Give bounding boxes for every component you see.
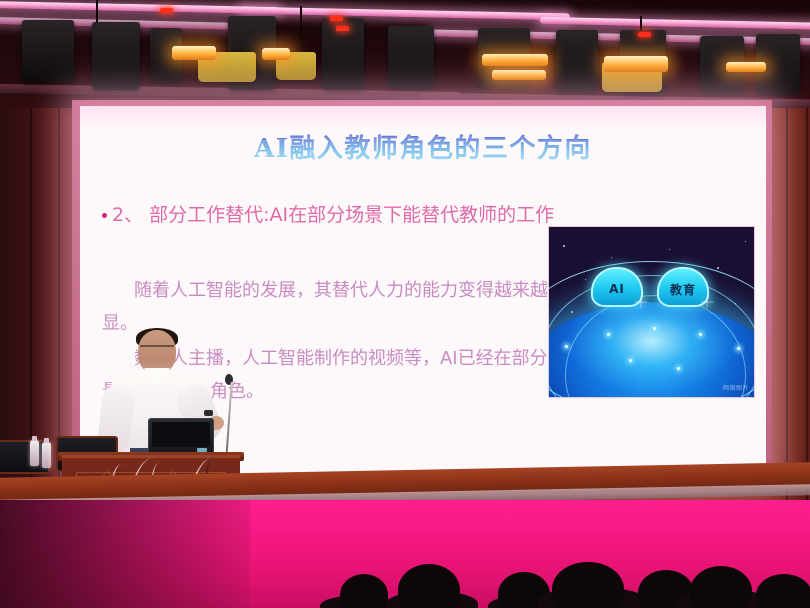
audience-member-head — [340, 574, 388, 608]
network-node — [565, 345, 568, 348]
bullet-dot-icon — [102, 213, 107, 218]
lamp-glow — [482, 54, 548, 66]
audience-member-head — [398, 564, 460, 608]
stage-light-fixture — [388, 26, 434, 88]
indicator-light — [638, 32, 651, 37]
lamp-glow — [172, 46, 216, 60]
lamp-glow — [604, 56, 668, 72]
image-watermark: 网络图片 — [723, 383, 749, 392]
lamp-glow — [492, 70, 546, 80]
water-bottle — [30, 440, 39, 466]
water-bottle — [42, 442, 51, 468]
presenter-wristwatch — [204, 410, 213, 416]
indicator-light — [330, 16, 343, 21]
slide-title: AI融入教师角色的三个方向 — [80, 128, 766, 165]
stage-light-fixture — [22, 20, 74, 82]
network-node — [699, 333, 702, 336]
indicator-light — [336, 26, 349, 31]
ceiling-lighting-truss — [0, 0, 810, 108]
network-node — [629, 359, 632, 362]
sparkle-icon — [701, 296, 713, 308]
light-hanger — [300, 6, 302, 40]
indicator-light — [160, 8, 173, 13]
light-tube — [540, 17, 810, 30]
light-tube — [240, 7, 570, 21]
audience-member-head — [690, 566, 752, 608]
lamp-glow — [262, 48, 290, 60]
slide-image-ai-education: AI 教育 网络图片 — [548, 226, 755, 398]
cloud-badge-education: 教育 — [657, 267, 709, 307]
light-tube — [0, 1, 280, 14]
slide-bullet-item: 2、 部分工作替代:AI在部分场景下能替代教师的工作 — [102, 198, 572, 232]
stage-light-fixture — [92, 22, 140, 90]
audience-member-head — [756, 574, 810, 608]
slide-bullet-text: 2、 部分工作替代:AI在部分场景下能替代教师的工作 — [112, 204, 554, 226]
network-node — [737, 347, 740, 350]
audience-member-head — [552, 562, 624, 608]
sparkle-icon — [635, 296, 647, 308]
presenter-laptop[interactable] — [148, 418, 214, 456]
lamp-glow — [726, 62, 766, 72]
floor-shadow — [0, 500, 250, 608]
laptop-screen — [152, 422, 210, 447]
network-node — [653, 327, 656, 330]
cloud-badge-ai: AI — [591, 267, 643, 307]
network-node — [607, 333, 610, 336]
presenter-glasses — [140, 345, 174, 353]
stage-light-fixture — [556, 30, 598, 92]
network-node — [677, 367, 680, 370]
photo-scene: AI融入教师角色的三个方向 2、 部分工作替代:AI在部分场景下能替代教师的工作… — [0, 0, 810, 608]
